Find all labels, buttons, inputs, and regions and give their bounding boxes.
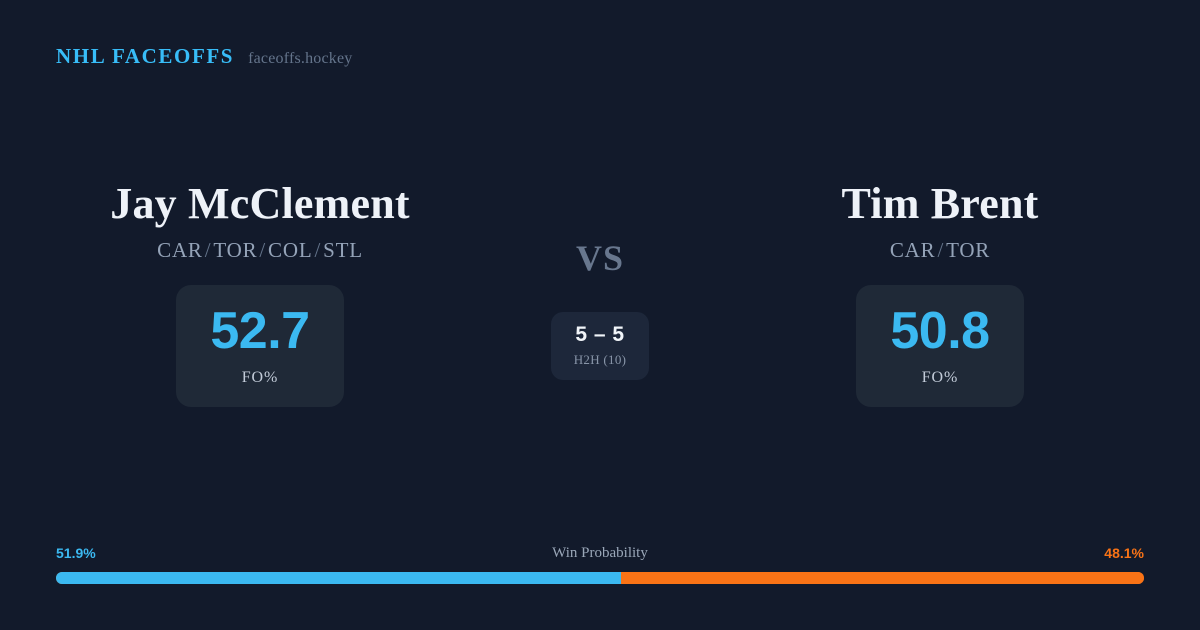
stat-value-left: 52.7 [210,305,309,357]
team-abbreviation: TOR [946,238,990,262]
versus-column: VS 5 – 5 H2H (10) [500,178,700,380]
versus-label: VS [576,240,624,276]
team-separator: / [312,238,323,262]
team-abbreviation: CAR [890,238,936,262]
stat-label-right: FO% [922,369,958,387]
matchup-row: Jay McClement CAR/TOR/COL/STL 52.7 FO% V… [0,178,1200,407]
win-probability-left-value: 51.9% [56,543,96,563]
win-probability-title: Win Probability [552,543,648,563]
win-probability-labels: 51.9% Win Probability 48.1% [56,543,1144,563]
player-card-left: Jay McClement CAR/TOR/COL/STL 52.7 FO% [20,178,500,407]
win-probability-fill-left [56,572,621,584]
team-separator: / [257,238,268,262]
head-to-head-score: 5 – 5 [575,324,624,345]
player-card-right: Tim Brent CAR/TOR 50.8 FO% [700,178,1180,407]
win-probability-section: 51.9% Win Probability 48.1% [56,543,1144,584]
player-name-right: Tim Brent [842,178,1039,230]
player-name-left: Jay McClement [110,178,410,230]
stat-card-right: 50.8 FO% [856,285,1024,407]
brand-header: NHL FACEOFFS faceoffs.hockey [56,46,353,67]
team-abbreviation: COL [268,238,312,262]
win-probability-right-value: 48.1% [1104,543,1144,563]
brand-domain: faceoffs.hockey [248,51,352,67]
team-separator: / [935,238,946,262]
win-probability-fill-right [621,572,1144,584]
stat-value-right: 50.8 [890,305,989,357]
team-abbreviation: CAR [157,238,203,262]
win-probability-bar [56,572,1144,584]
head-to-head-card: 5 – 5 H2H (10) [551,312,649,380]
team-separator: / [203,238,214,262]
head-to-head-label: H2H (10) [574,352,627,368]
stat-label-left: FO% [242,369,278,387]
player-teams-right: CAR/TOR [890,238,990,263]
stat-card-left: 52.7 FO% [176,285,344,407]
matchup-graphic: NHL FACEOFFS faceoffs.hockey Jay McCleme… [0,0,1200,630]
brand-title: NHL FACEOFFS [56,46,234,67]
team-abbreviation: TOR [213,238,257,262]
team-abbreviation: STL [323,238,363,262]
player-teams-left: CAR/TOR/COL/STL [157,238,363,263]
